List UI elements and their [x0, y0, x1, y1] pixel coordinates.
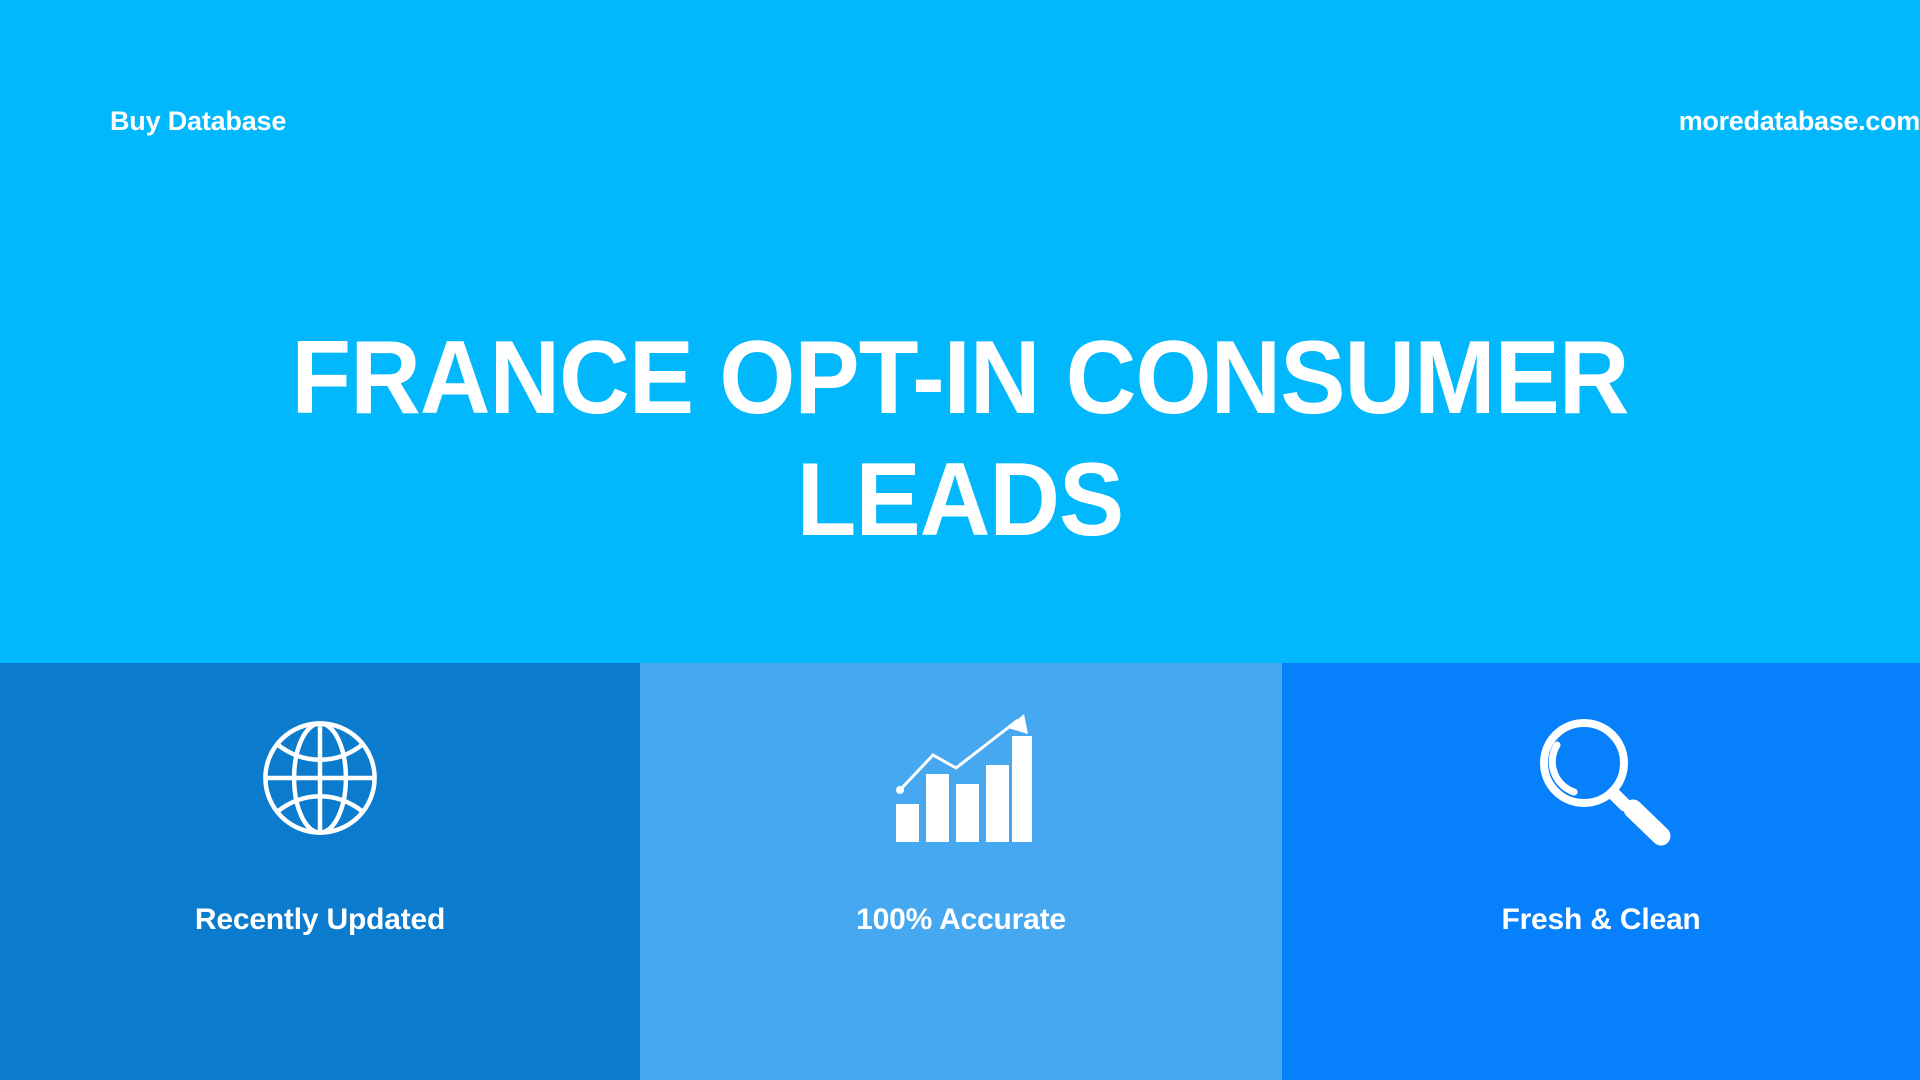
- brand-label: Buy Database: [110, 106, 286, 137]
- website-label: moredatabase.com: [1679, 106, 1920, 137]
- bar-chart-growth-icon: [640, 693, 1282, 863]
- feature-label-recently-updated: Recently Updated: [0, 903, 640, 937]
- hero-section: Buy Database moredatabase.com FRANCE OPT…: [0, 0, 1920, 663]
- feature-panel-recently-updated: Recently Updated: [0, 663, 640, 1080]
- feature-label-fresh-clean: Fresh & Clean: [1282, 903, 1920, 937]
- feature-panel-fresh-clean: Fresh & Clean: [1282, 663, 1920, 1080]
- magnifying-glass-icon: [1282, 693, 1920, 863]
- page-title-line-2: LEADS: [58, 440, 1863, 562]
- globe-icon: [0, 693, 640, 863]
- feature-panels: Recently Updated 100% Accurate: [0, 663, 1920, 1080]
- feature-label-accurate: 100% Accurate: [640, 903, 1282, 937]
- promo-banner: Buy Database moredatabase.com FRANCE OPT…: [0, 0, 1920, 1080]
- page-title: FRANCE OPT-IN CONSUMER LEADS: [58, 318, 1863, 561]
- feature-panel-accurate: 100% Accurate: [640, 663, 1282, 1080]
- page-title-line-1: FRANCE OPT-IN CONSUMER: [58, 318, 1863, 440]
